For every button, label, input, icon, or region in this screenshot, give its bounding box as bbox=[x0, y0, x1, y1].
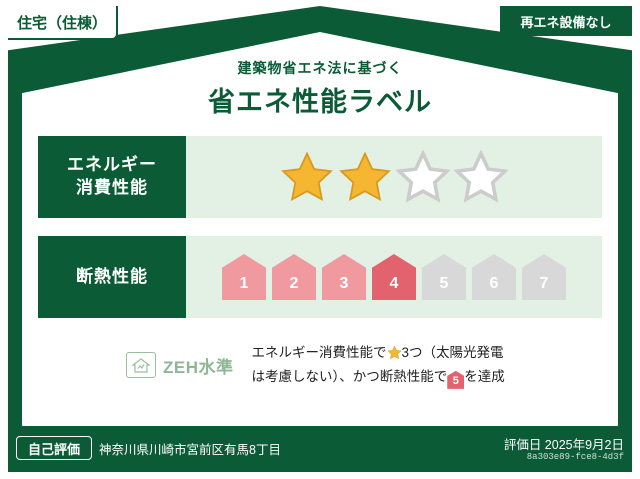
star-icon-empty-4 bbox=[454, 150, 508, 204]
footer: 自己評価 神奈川県川崎市宮前区有馬8丁目 評価日 2025年9月2日 8a303… bbox=[0, 430, 640, 476]
insulation-grade-3-label: 3 bbox=[340, 275, 349, 300]
zeh-description-line1: エネルギー消費性能で3つ（太陽光発電 bbox=[252, 341, 505, 365]
evaluation-id: 8a303e89-fce8-4d3f bbox=[527, 452, 624, 462]
zeh-description-line2: は考慮しない）、かつ断熱性能で5を達成 bbox=[252, 365, 505, 389]
insulation-grade-scale: 1 2 3 4 5 bbox=[222, 254, 566, 300]
energy-performance-label-line1: エネルギー bbox=[67, 154, 157, 177]
zeh-grade-badge-icon: 5 bbox=[447, 371, 464, 389]
zeh-house-glyph bbox=[132, 358, 150, 373]
zeh-badge-label: ZEH水準 bbox=[163, 353, 234, 378]
energy-performance-row-label: エネルギー 消費性能 bbox=[38, 136, 186, 218]
insulation-performance-label: 断熱性能 bbox=[76, 266, 148, 289]
renewable-equipment-tag: 再エネ設備なし bbox=[500, 6, 632, 36]
zeh-description-line2-b: を達成 bbox=[464, 369, 505, 384]
energy-performance-label-line2: 消費性能 bbox=[76, 177, 148, 200]
insulation-performance-row-body: 1 2 3 4 5 bbox=[186, 236, 602, 318]
insulation-grade-6-label: 6 bbox=[490, 275, 499, 300]
star-icon-filled-2 bbox=[338, 150, 392, 204]
renewable-equipment-tag-label: 再エネ設備なし bbox=[520, 12, 611, 31]
zeh-description-line2-a: は考慮しない）、かつ断熱性能で bbox=[252, 369, 448, 384]
title-subtitle: 建築物省エネ法に基づく bbox=[0, 58, 640, 78]
energy-performance-label: 住宅（住棟） 再エネ設備なし 建築物省エネ法に基づく 省エネ性能ラベル エネルギ… bbox=[0, 0, 640, 479]
page-title: 省エネ性能ラベル bbox=[0, 80, 640, 119]
star-rating bbox=[280, 150, 508, 204]
zeh-house-icon bbox=[126, 352, 156, 378]
insulation-grade-2: 2 bbox=[272, 254, 316, 300]
self-evaluation-badge: 自己評価 bbox=[16, 436, 92, 460]
building-type-tag: 住宅（住棟） bbox=[8, 6, 118, 40]
insulation-grade-1: 1 bbox=[222, 254, 266, 300]
insulation-grade-5-label: 5 bbox=[440, 275, 449, 300]
address-text: 神奈川県川崎市宮前区有馬8丁目 bbox=[99, 439, 281, 458]
insulation-grade-4: 4 bbox=[372, 254, 416, 300]
zeh-description: エネルギー消費性能で3つ（太陽光発電 は考慮しない）、かつ断熱性能で5を達成 bbox=[252, 341, 505, 389]
energy-performance-row-body bbox=[186, 136, 602, 218]
insulation-performance-row: 断熱性能 1 2 3 4 bbox=[38, 236, 602, 318]
insulation-grade-2-label: 2 bbox=[290, 275, 299, 300]
star-icon-filled-1 bbox=[280, 150, 334, 204]
zeh-description-line1-b: 3つ（太陽光発電 bbox=[402, 345, 504, 360]
building-type-tag-label: 住宅（住棟） bbox=[17, 12, 107, 33]
star-icon-empty-3 bbox=[396, 150, 450, 204]
evaluation-date: 評価日 2025年9月2日 bbox=[504, 434, 624, 453]
zeh-badge: ZEH水準 bbox=[126, 352, 234, 378]
insulation-performance-row-label: 断熱性能 bbox=[38, 236, 186, 318]
star-icon-inline bbox=[387, 345, 402, 360]
insulation-grade-5: 5 bbox=[422, 254, 466, 300]
insulation-grade-7: 7 bbox=[522, 254, 566, 300]
insulation-grade-3: 3 bbox=[322, 254, 366, 300]
energy-performance-row: エネルギー 消費性能 bbox=[38, 136, 602, 218]
insulation-grade-6: 6 bbox=[472, 254, 516, 300]
zeh-section: ZEH水準 エネルギー消費性能で3つ（太陽光発電 は考慮しない）、かつ断熱性能で… bbox=[38, 332, 602, 398]
insulation-grade-1-label: 1 bbox=[240, 275, 249, 300]
insulation-grade-7-label: 7 bbox=[540, 275, 549, 300]
insulation-grade-4-label: 4 bbox=[390, 275, 399, 300]
zeh-description-line1-a: エネルギー消費性能で bbox=[252, 345, 387, 360]
